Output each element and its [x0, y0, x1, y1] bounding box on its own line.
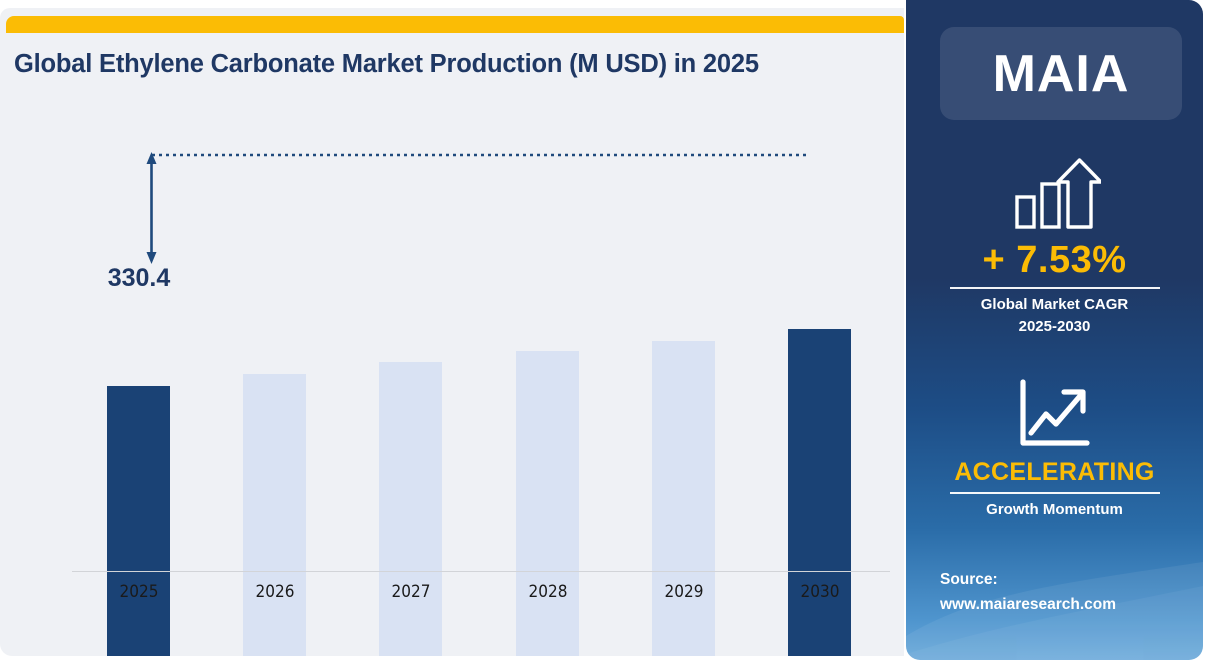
- x-tick-2030: 2030: [778, 582, 862, 602]
- side-info-panel: MAIA + 7.53% Global Market CAGR 2025-203…: [906, 0, 1203, 660]
- source-url[interactable]: www.maiaresearch.com: [940, 593, 1190, 618]
- x-tick-2026: 2026: [233, 582, 317, 602]
- momentum-stat-block: ACCELERATING Growth Momentum: [906, 378, 1203, 521]
- momentum-caption: Growth Momentum: [906, 499, 1203, 521]
- line-chart-trend-up-icon: [1016, 378, 1094, 450]
- bar-2025[interactable]: [107, 386, 170, 656]
- cagr-caption-line2: 2025-2030: [906, 316, 1203, 338]
- chart-panel: Global Ethylene Carbonate Market Product…: [0, 8, 904, 656]
- x-axis-line: [72, 571, 890, 572]
- infographic-canvas: Global Ethylene Carbonate Market Product…: [0, 0, 1207, 672]
- source-label: Source:: [940, 568, 1190, 593]
- momentum-divider: [950, 492, 1160, 494]
- brand-logo: MAIA: [940, 27, 1182, 120]
- x-tick-2028: 2028: [506, 582, 590, 602]
- momentum-value: ACCELERATING: [906, 458, 1203, 487]
- bar-value-label-2025: 330.4: [97, 264, 181, 293]
- cagr-stat-block: + 7.53% Global Market CAGR 2025-2030: [906, 155, 1203, 338]
- bar-2028[interactable]: [516, 351, 579, 656]
- cagr-caption-line1: Global Market CAGR: [906, 294, 1203, 316]
- bar-2030[interactable]: [788, 329, 851, 656]
- cagr-value: + 7.53%: [906, 239, 1203, 282]
- bar-2026[interactable]: [243, 374, 306, 656]
- x-tick-2027: 2027: [369, 582, 453, 602]
- brand-logo-text: MAIA: [993, 44, 1130, 104]
- bar-chart-up-arrow-icon: [1009, 155, 1101, 233]
- source-block: Source: www.maiaresearch.com: [940, 568, 1190, 618]
- x-tick-2025: 2025: [97, 582, 181, 602]
- bar-2027[interactable]: [379, 362, 442, 656]
- bar-chart-plot-area: 2025 2026 2027 2028 2029 2030 330.4: [0, 8, 904, 656]
- bar-2029[interactable]: [652, 341, 715, 656]
- cagr-divider: [950, 287, 1160, 289]
- x-tick-2029: 2029: [642, 582, 726, 602]
